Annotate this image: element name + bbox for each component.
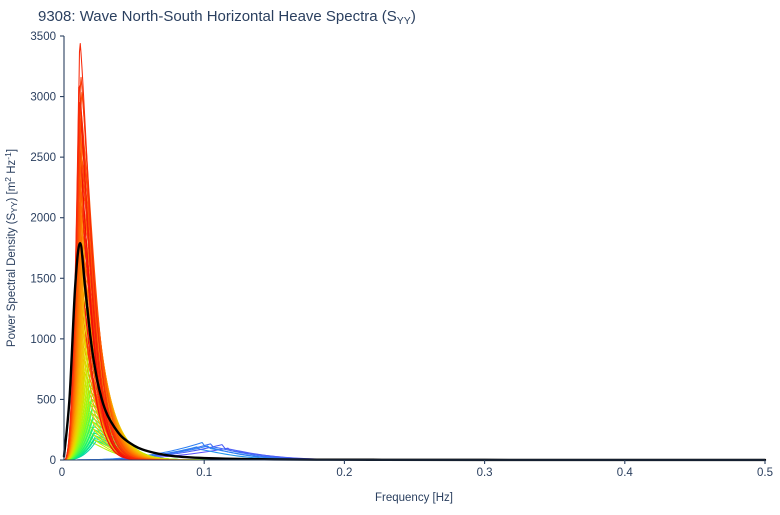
y-tick-label: 0 xyxy=(50,455,56,467)
wave-spectra-chart: 9308: Wave North-South Horizontal Heave … xyxy=(0,0,780,515)
plot-area-background xyxy=(64,36,765,460)
x-axis-origin-label: 0 xyxy=(59,467,65,479)
y-tick-label: 1500 xyxy=(30,273,56,285)
y-tick-label: 2500 xyxy=(30,152,56,164)
x-tick-label: 0.1 xyxy=(196,467,212,479)
y-tick-label: 500 xyxy=(37,394,56,406)
y-tick-label: 1000 xyxy=(30,334,56,346)
page-title: 9308: Wave North-South Horizontal Heave … xyxy=(38,8,416,27)
x-tick-label: 0.5 xyxy=(757,467,773,479)
x-tick-label: 0.4 xyxy=(617,467,634,479)
x-axis-title: Frequency [Hz] xyxy=(375,492,453,504)
y-tick-label: 3500 xyxy=(30,31,56,43)
x-tick-label: 0.3 xyxy=(477,467,493,479)
x-tick-label: 0.2 xyxy=(336,467,352,479)
y-tick-label: 2000 xyxy=(30,213,56,225)
y-tick-label: 3000 xyxy=(30,92,56,104)
